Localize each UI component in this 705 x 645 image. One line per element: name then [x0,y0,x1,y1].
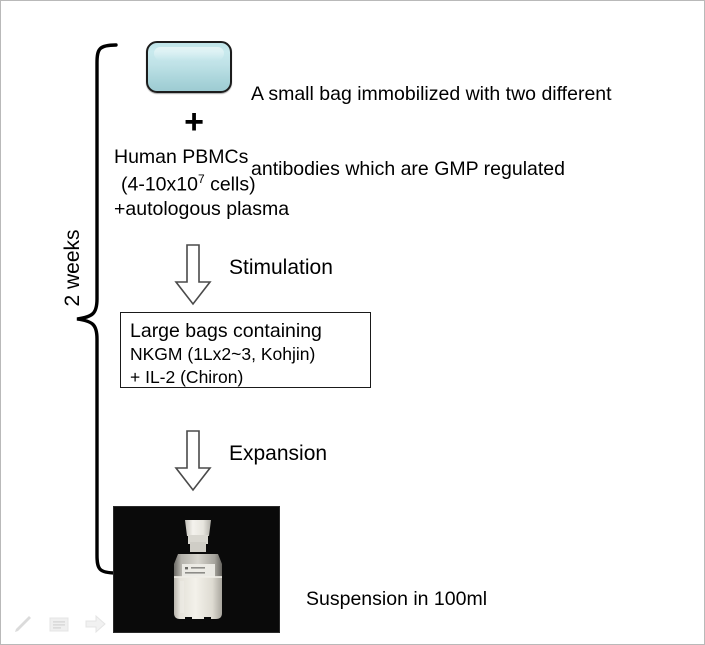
pbmc-count-exponent: 7 [198,172,205,186]
down-arrow-icon-stimulation [173,244,213,306]
time-span-label: 2 weeks [61,208,85,328]
pbmc-line-1: Human PBMCs [114,146,248,169]
pen-icon[interactable] [11,612,35,636]
expansion-label: Expansion [229,442,327,466]
large-bags-line-2: NKGM (1Lx2~3, Kohjin) [130,343,370,366]
figure-canvas: 2 weeks A small bag immobilized with two… [0,0,705,645]
pbmc-line-2: (4-10x107 cells) [121,172,256,197]
pbmc-count-suffix: cells) [205,174,256,196]
down-arrow-icon-expansion [173,430,213,492]
large-bags-line-1: Large bags containing [130,319,370,343]
bottle-photograph [113,506,280,633]
small-bag-caption-line2: antibodies which are GMP regulated [251,157,612,182]
product-caption: Suspension in 100ml physiological saline [306,534,487,645]
stimulation-label: Stimulation [229,256,333,280]
toolbar [9,612,119,638]
small-bag-caption-line1: A small bag immobilized with two differe… [251,82,612,107]
arrow-right-icon[interactable] [83,612,107,636]
bottle-illustration [114,507,279,632]
lines-icon[interactable] [47,612,71,636]
pbmc-count-prefix: (4-10x10 [121,174,198,196]
product-caption-line1: Suspension in 100ml [306,586,487,612]
plus-symbol: + [177,105,211,139]
large-bags-box: Large bags containing NKGM (1Lx2~3, Kohj… [120,312,371,388]
large-bags-line-3: + IL-2 (Chiron) [130,366,370,389]
small-bag-caption: A small bag immobilized with two differe… [251,32,612,232]
small-bag-shape [146,41,232,93]
pbmc-line-3: +autologous plasma [114,198,289,221]
